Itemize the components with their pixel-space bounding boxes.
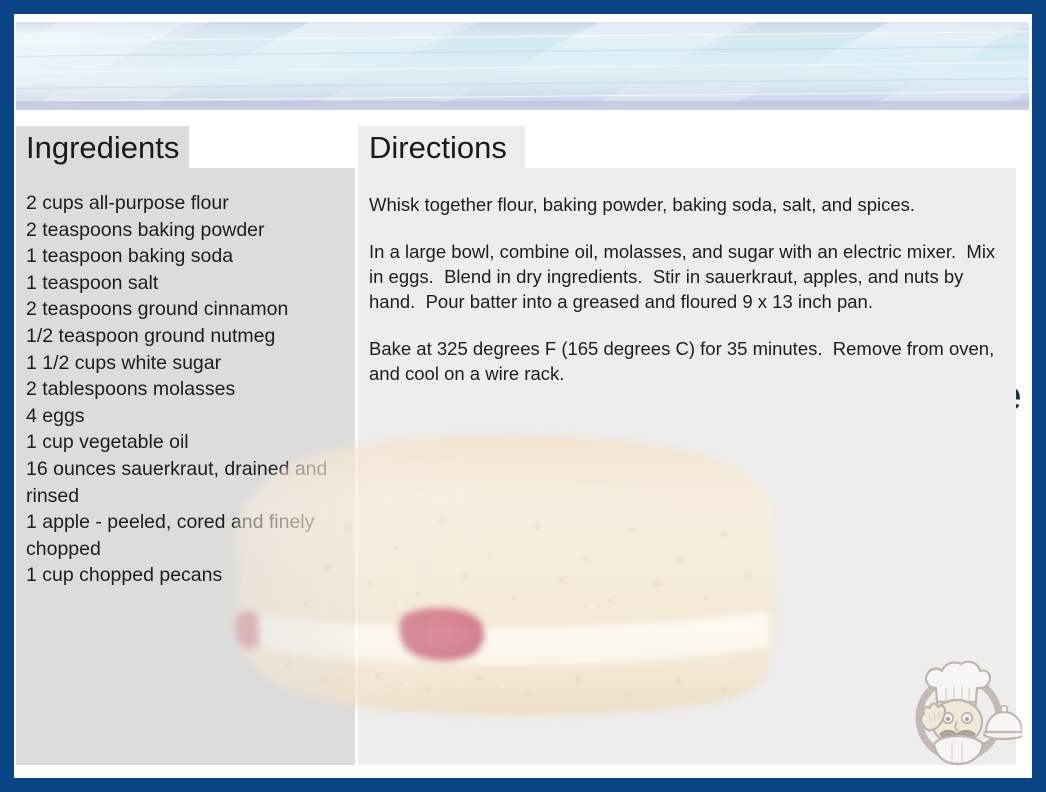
banner-ribbon [16, 22, 375, 110]
ingredients-list: 2 cups all-purpose flour 2 teaspoons bak… [26, 190, 348, 589]
directions-paragraph: In a large bowl, combine oil, molasses, … [369, 239, 1009, 314]
banner-streak [16, 62, 1029, 73]
list-item: 1 cup chopped pecans [26, 562, 348, 589]
list-item: 4 eggs [26, 403, 348, 430]
ingredients-header-notch [189, 126, 355, 168]
list-item: 1 1/2 cups white sugar [26, 350, 348, 377]
ingredients-heading: Ingredients [26, 130, 179, 166]
list-item: 1 apple - peeled, cored and finely chopp… [26, 509, 348, 562]
title-banner [16, 22, 1029, 110]
list-item: 1 teaspoon salt [26, 270, 348, 297]
list-item: 2 teaspoons ground cinnamon [26, 296, 348, 323]
list-item: 16 ounces sauerkraut, drained and rinsed [26, 456, 348, 509]
list-item: 2 tablespoons molasses [26, 376, 348, 403]
list-item: 2 cups all-purpose flour [26, 190, 348, 217]
banner-base-band [16, 101, 1029, 110]
banner-streak [16, 78, 1029, 89]
directions-paragraph: Bake at 325 degrees F (165 degrees C) fo… [369, 336, 1009, 386]
directions-body: Whisk together flour, baking powder, bak… [369, 192, 1009, 386]
list-item: 2 teaspoons baking powder [26, 217, 348, 244]
banner-ribbon [797, 22, 1029, 110]
directions-heading: Directions [369, 130, 507, 166]
list-item: 1/2 teaspoon ground nutmeg [26, 323, 348, 350]
list-item: 1 teaspoon baking soda [26, 243, 348, 270]
banner-streak [16, 46, 1029, 57]
directions-paragraph: Whisk together flour, baking powder, bak… [369, 192, 1009, 217]
banner-ribbon [16, 22, 275, 110]
list-item: 1 cup vegetable oil [26, 429, 348, 456]
recipe-card: Sauerkraut Apple Cake Ingredients 2 cups… [0, 0, 1046, 792]
banner-streak [16, 31, 1029, 42]
